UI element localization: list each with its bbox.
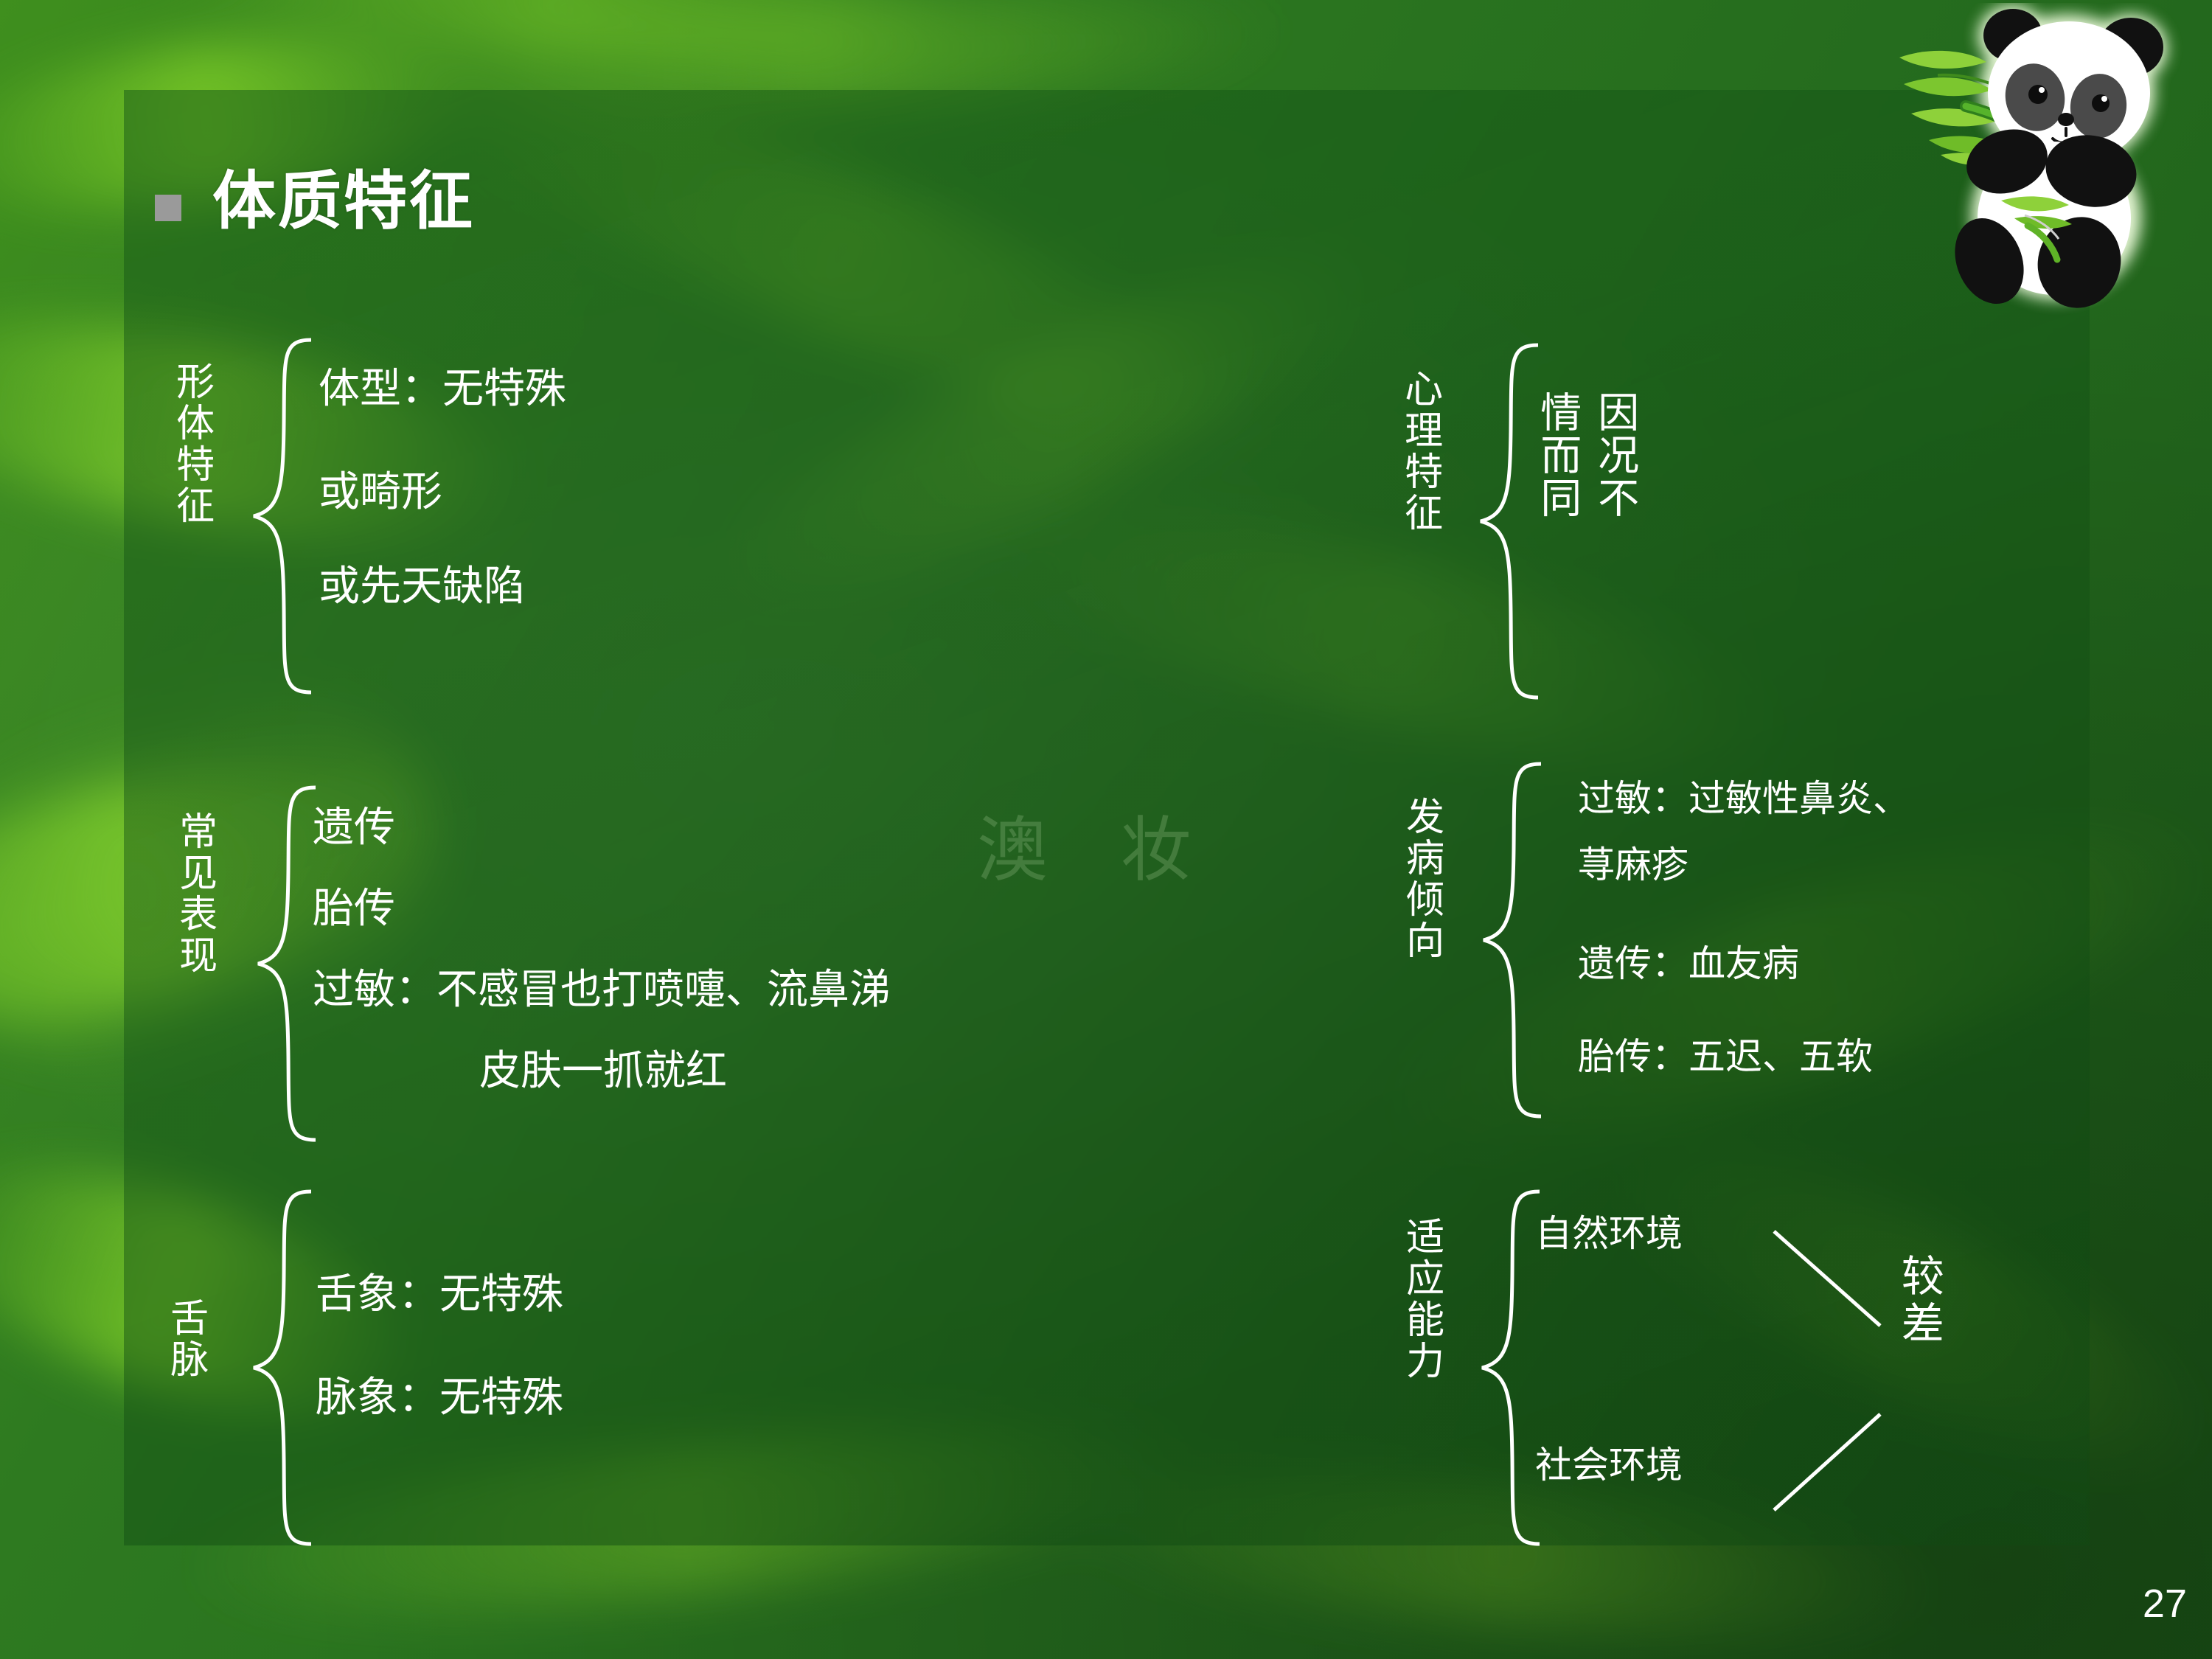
psychological-features-vcol-1: 因况不: [1593, 391, 1636, 612]
group-label-body-features: 形体特征: [171, 361, 212, 605]
psychological-features-vcol-2: 情而同: [1535, 391, 1579, 612]
disease-tendency-line-4: 胎传：五迟、五软: [1578, 1038, 1873, 1075]
disease-tendency-line-1: 过敏：过敏性鼻炎、: [1578, 780, 1910, 817]
adaptive-capacity-converge-label: 较差: [1896, 1253, 1941, 1423]
group-label-common-manifestations: 常见表现: [174, 811, 215, 1054]
page-title: 体质特征: [155, 170, 475, 233]
brace-disease-tendency: [1473, 759, 1554, 1121]
group-label-tongue-pulse: 舌脉: [165, 1298, 206, 1430]
brace-body-features: [243, 335, 324, 697]
common-manifestations-line-2: 胎传: [313, 888, 395, 930]
brace-tongue-pulse: [243, 1187, 324, 1548]
disease-tendency-line-2: 荨麻疹: [1578, 846, 1688, 883]
common-manifestations-line-4: 皮肤一抓就红: [479, 1051, 727, 1092]
watermark: 澳 妆: [977, 793, 1217, 895]
body-features-line-3: 或先天缺陷: [319, 566, 525, 608]
adaptive-capacity-line-2: 社会环境: [1535, 1447, 1683, 1484]
common-manifestations-line-3: 过敏：不感冒也打喷嚏、流鼻涕: [313, 970, 891, 1011]
group-label-disease-tendency: 发病倾向: [1401, 796, 1441, 1040]
group-label-psychological-features: 心理特征: [1399, 369, 1440, 612]
square-bullet-icon: [155, 195, 181, 221]
panda-bamboo-logo: [1898, 3, 2208, 320]
tongue-pulse-line-1: 舌象：无特殊: [316, 1274, 563, 1315]
body-features-line-2: 或畸形: [319, 472, 442, 513]
group-label-adaptive-capacity: 适应能力: [1401, 1217, 1441, 1460]
slide-root: 澳 妆 体质特征 形体特征 体型：无特殊 或畸形 或先天缺陷 常见表现 遗传 胎…: [0, 0, 2212, 1659]
title-text: 体质特征: [212, 170, 475, 233]
common-manifestations-line-1: 遗传: [313, 807, 395, 849]
adaptive-capacity-line-1: 自然环境: [1535, 1215, 1683, 1252]
tongue-pulse-line-2: 脉象：无特殊: [316, 1377, 563, 1419]
page-number: 27: [2143, 1581, 2187, 1627]
body-features-line-1: 体型：无特殊: [319, 369, 566, 410]
disease-tendency-line-3: 遗传：血友病: [1578, 945, 1799, 982]
